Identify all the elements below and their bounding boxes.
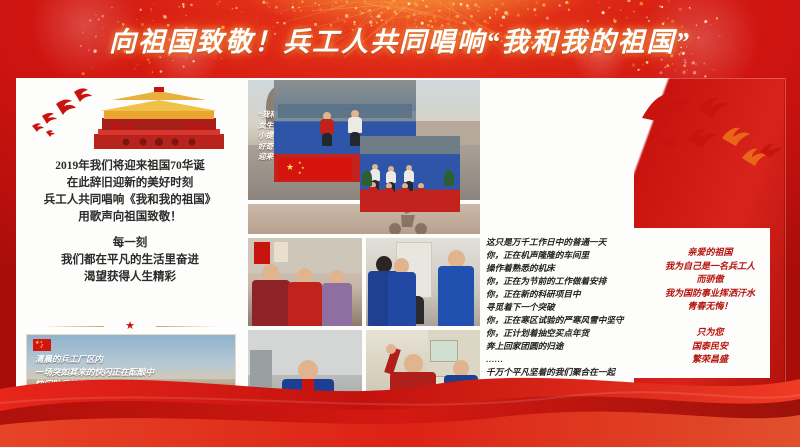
peace-doves-icon [32,88,92,137]
gym-mural [278,104,412,118]
person-figure [400,183,410,207]
potted-plant-icon [362,170,372,186]
narrative-line: 你，正计划着抽空买点年货 [486,327,638,340]
silk-waves-icon [0,355,800,447]
potted-plant-icon [444,170,454,186]
narrative-line: 操作着熟悉的机床 [486,262,638,275]
pledge-line: 而骄傲 [644,273,776,287]
person-figure [388,258,416,326]
poster-title: 向祖国致敬！兵工人共同唱响“我和我的祖国” [0,20,800,59]
left-intro-text: 2019年我们将迎来祖国70华诞 在此辞旧迎新的美好时刻 兵工人共同唱响《我和我… [24,158,236,286]
china-flag-icon: ★ ★ ★ ★ [33,339,51,351]
pledge-line: 青春无悔！ [644,300,776,314]
person-figure [252,264,290,326]
intro-line: 2019年我们将迎来祖国70华诞 [24,158,236,175]
intro-line: 我们都在平凡的生活里奋进 [24,252,236,269]
narrative-line: 你，正在寒区试验的严寒风雪中坚守 [486,314,638,327]
intro-line: 在此辞旧迎新的美好时刻 [24,175,236,192]
photo-gymnasium-chorus [360,136,460,212]
narrative-line: 你，正在为节前的工作做着安排 [486,275,638,288]
photo-office-colleagues [366,238,480,326]
person-figure [320,112,334,146]
right-pledge-text: 亲爱的祖国 我为自己是一名兵工人 而骄傲 我为国防事业挥洒汗水 青春无悔！ [644,246,776,314]
photo-elderly-singers [248,238,362,326]
red-birds-icon [642,94,782,166]
narrative-line: 奔上回家团圆的归途 [486,340,638,353]
china-flag-icon: ★ ★ ★ ★ [278,158,352,180]
narrative-line: 寻觅着下一个突破 [486,301,638,314]
blessing-line: 只为您 [644,326,776,340]
header-banner: 向祖国致敬！兵工人共同唱响“我和我的祖国” [0,0,800,78]
tiananmen-gate-icon [94,87,224,149]
person-figure [288,268,322,326]
wall-poster [254,242,270,264]
red-silk-ribbon [0,355,800,447]
section-divider: ★ [42,321,218,331]
narrative-line: 你，正在新的科研项目中 [486,288,638,301]
intro-line: 每一刻 [24,235,236,252]
divider-line-left [42,326,104,327]
tiananmen-illustration [16,80,244,156]
narrative-line: 这只是万千工作日中的普通一天 [486,236,638,249]
narrative-line: 你，正在机声隆隆的车间里 [486,249,638,262]
person-figure [438,250,474,326]
pledge-line: 我为自己是一名兵工人 [644,260,776,274]
wall-poster [274,242,288,262]
pledge-line: 亲爱的祖国 [644,246,776,260]
intro-line: 兵工人共同唱响《我和我的祖国》 [24,192,236,209]
blessing-line: 国泰民安 [644,340,776,354]
pledge-line: 我为国防事业挥洒汗水 [644,287,776,301]
intro-line: 用歌声向祖国致敬！ [24,209,236,226]
gym-ceiling [360,136,460,154]
gymnasium-photo-cluster: ★ ★ ★ ★ [274,80,460,212]
intro-line: 渴望获得人生精彩 [24,269,236,286]
person-figure [416,183,426,207]
poster-root: 向祖国致敬！兵工人共同唱响“我和我的祖国” [0,0,800,447]
divider-line-right [156,326,218,327]
red-birds-illustration [636,82,782,186]
person-figure [322,270,352,326]
star-icon: ★ [125,321,135,332]
person-figure [384,183,394,207]
